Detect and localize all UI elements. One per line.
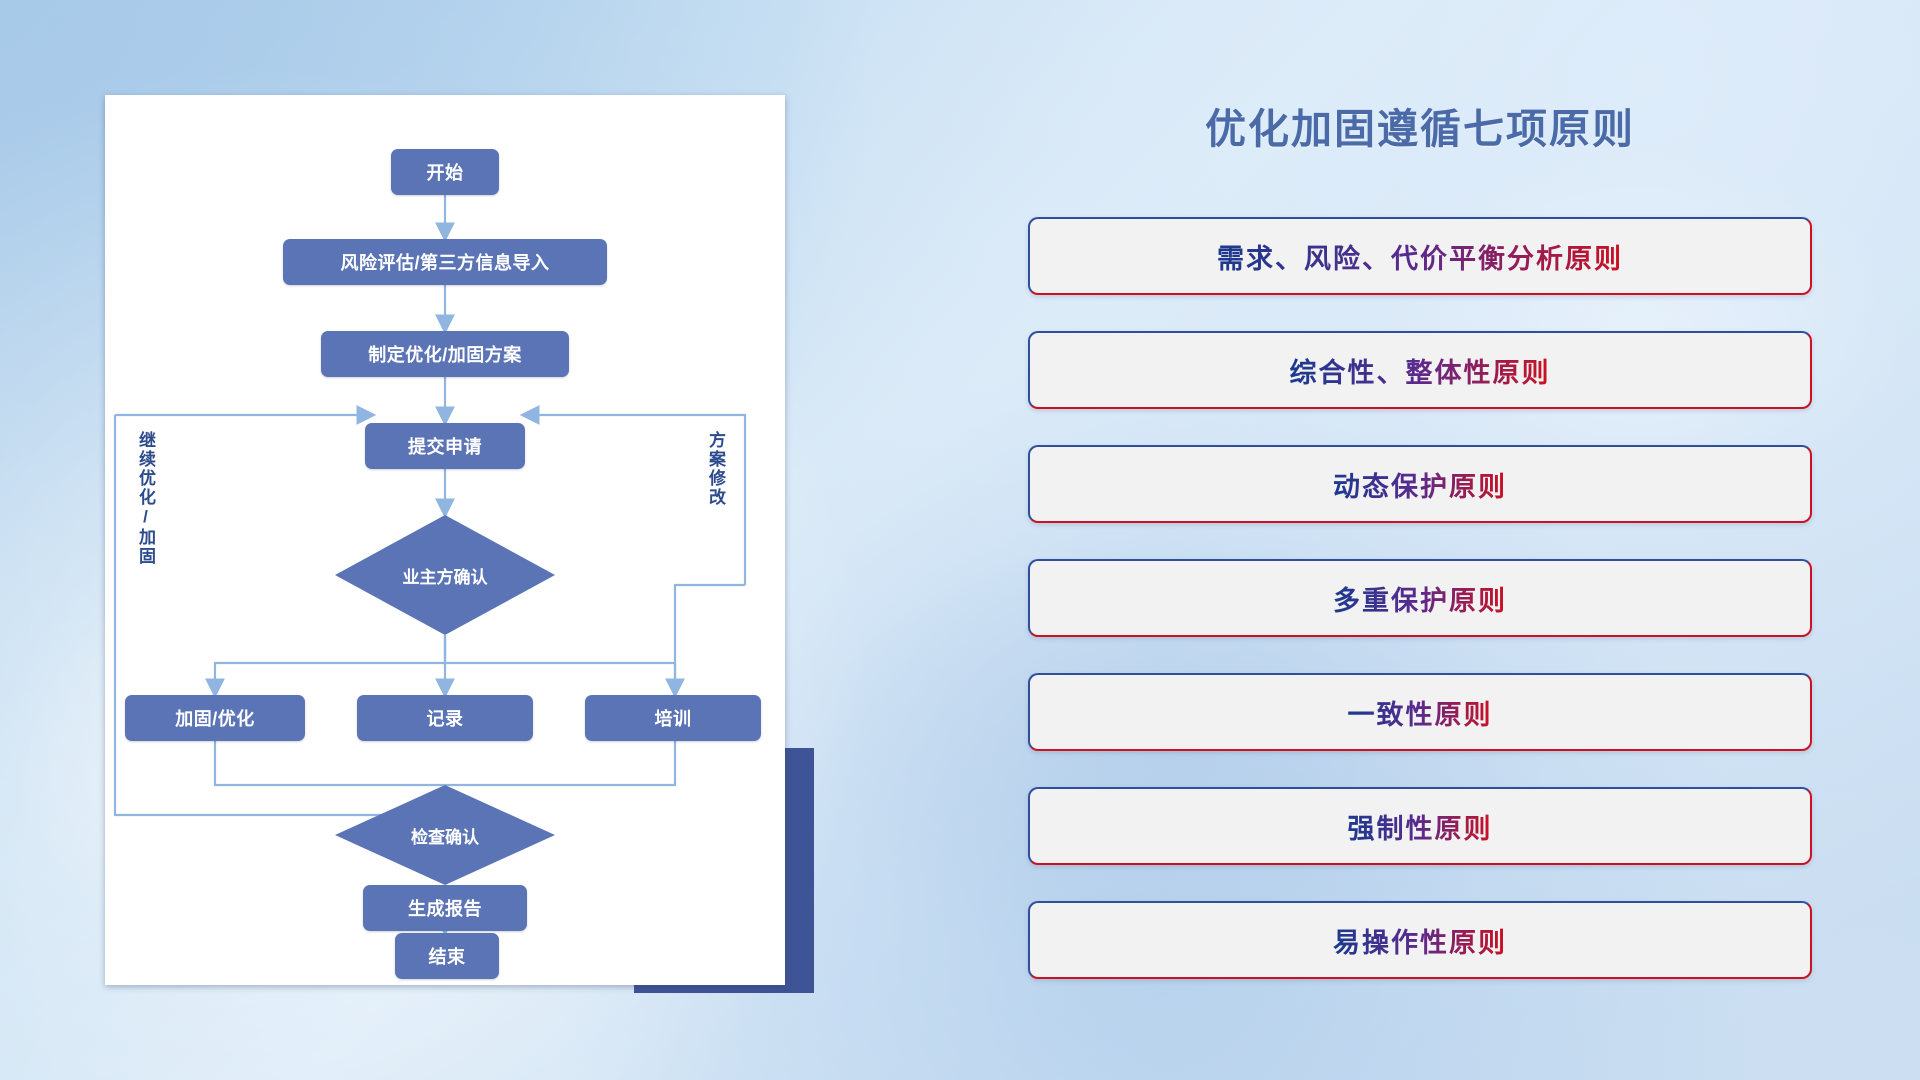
flow-node-record[interactable]: 记录 bbox=[357, 695, 533, 741]
flow-node-reinforce[interactable]: 加固/优化 bbox=[125, 695, 305, 741]
flow-node-start[interactable]: 开始 bbox=[391, 149, 499, 195]
flow-node-label: 结束 bbox=[429, 943, 466, 969]
principle-card[interactable]: 综合性、整体性原则 bbox=[1028, 331, 1812, 409]
flow-node-risk-assessment[interactable]: 风险评估/第三方信息导入 bbox=[283, 239, 607, 285]
principle-card[interactable]: 一致性原则 bbox=[1028, 673, 1812, 751]
principle-card[interactable]: 强制性原则 bbox=[1028, 787, 1812, 865]
flow-node-label: 检查确认 bbox=[411, 823, 479, 848]
principle-label: 一致性原则 bbox=[1348, 693, 1493, 732]
flow-node-label: 提交申请 bbox=[408, 433, 482, 459]
principle-card[interactable]: 易操作性原则 bbox=[1028, 901, 1812, 979]
flowchart-card: 开始 风险评估/第三方信息导入 制定优化/加固方案 提交申请 业主方确认 加固/… bbox=[105, 95, 785, 985]
flow-decision-check-confirm[interactable]: 检查确认 bbox=[335, 785, 555, 885]
flow-edge-label-left: 继续优化/加固 bbox=[133, 431, 158, 566]
flowchart: 开始 风险评估/第三方信息导入 制定优化/加固方案 提交申请 业主方确认 加固/… bbox=[105, 95, 785, 985]
flow-node-label: 开始 bbox=[427, 159, 464, 185]
principles-panel: 优化加固遵循七项原则 需求、风险、代价平衡分析原则 综合性、整体性原则 动态保护… bbox=[1010, 95, 1830, 1015]
page-title: 优化加固遵循七项原则 bbox=[1010, 95, 1830, 155]
principle-label: 多重保护原则 bbox=[1333, 579, 1507, 618]
flow-node-training[interactable]: 培训 bbox=[585, 695, 761, 741]
flow-decision-owner-confirm[interactable]: 业主方确认 bbox=[335, 515, 555, 635]
principle-label: 强制性原则 bbox=[1348, 807, 1493, 846]
principle-label: 易操作性原则 bbox=[1333, 921, 1507, 960]
flow-node-plan[interactable]: 制定优化/加固方案 bbox=[321, 331, 569, 377]
principle-label: 综合性、整体性原则 bbox=[1290, 351, 1551, 390]
flow-node-submit[interactable]: 提交申请 bbox=[365, 423, 525, 469]
flow-node-report[interactable]: 生成报告 bbox=[363, 885, 527, 931]
flow-node-label: 记录 bbox=[427, 705, 464, 731]
flow-node-label: 生成报告 bbox=[408, 895, 482, 921]
principle-label: 需求、风险、代价平衡分析原则 bbox=[1217, 237, 1623, 276]
flow-node-label: 风险评估/第三方信息导入 bbox=[341, 249, 550, 275]
principle-label: 动态保护原则 bbox=[1333, 465, 1507, 504]
flow-node-label: 业主方确认 bbox=[403, 563, 488, 588]
principle-card[interactable]: 动态保护原则 bbox=[1028, 445, 1812, 523]
flow-node-label: 培训 bbox=[655, 705, 692, 731]
flow-node-label: 加固/优化 bbox=[175, 705, 255, 731]
principle-card[interactable]: 需求、风险、代价平衡分析原则 bbox=[1028, 217, 1812, 295]
flow-node-label: 制定优化/加固方案 bbox=[368, 341, 522, 367]
flow-node-end[interactable]: 结束 bbox=[395, 933, 499, 979]
flow-edge-label-right: 方案修改 bbox=[703, 431, 728, 507]
principle-card[interactable]: 多重保护原则 bbox=[1028, 559, 1812, 637]
